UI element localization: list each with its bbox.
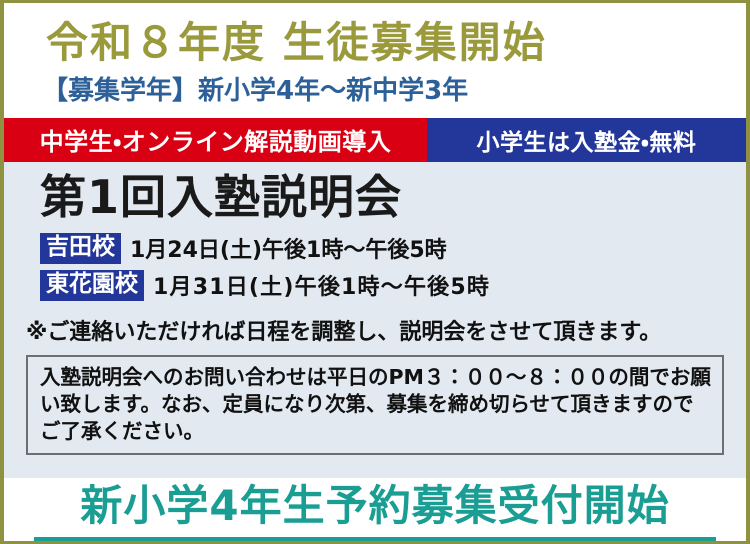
ribbon-left-label: 中学生・オンライン解説動画導入 bbox=[40, 122, 392, 157]
ribbon-right-label: 小学生は入塾金・無料 bbox=[477, 123, 697, 157]
grade-range-subtitle: 【募集学年】新小学4年〜新中学3年 bbox=[42, 77, 746, 106]
promo-poster: 令和８年度 生徒募集開始 【募集学年】新小学4年〜新中学3年 中学生・オンライン… bbox=[0, 0, 750, 544]
header-section: 令和８年度 生徒募集開始 【募集学年】新小学4年〜新中学3年 bbox=[4, 3, 746, 118]
page-title: 令和８年度 生徒募集開始 bbox=[46, 21, 746, 65]
inquiry-info-box: 入塾説明会へのお問い合わせは平日のPM３：００〜８：００の間でお願い致します。な… bbox=[26, 355, 724, 455]
ribbon-left-red: 中学生・オンライン解説動画導入 bbox=[4, 118, 427, 162]
event-title: 第1回入塾説明会 bbox=[40, 172, 746, 223]
session-datetime: 1月24日(土)午後1時〜午後5時 bbox=[130, 232, 447, 264]
campus-badge: 東花園校 bbox=[40, 270, 144, 300]
session-list: 吉田校 1月24日(土)午後1時〜午後5時 東花園校 1月31日(土)午後1時〜… bbox=[40, 232, 746, 306]
schedule-note: ※ご連絡いただければ日程を調整し、説明会をさせて頂きます。 bbox=[26, 314, 746, 346]
highlight-ribbon: 中学生・オンライン解説動画導入 小学生は入塾金・無料 bbox=[4, 118, 746, 162]
reservation-announcement: 新小学4年生予約募集受付開始 bbox=[4, 484, 746, 528]
session-datetime: 1月31日(土)午後1時〜午後5時 bbox=[153, 269, 490, 301]
main-section: 第1回入塾説明会 吉田校 1月24日(土)午後1時〜午後5時 東花園校 1月31… bbox=[4, 162, 746, 478]
footer-banner: 新小学4年生予約募集受付開始 bbox=[4, 478, 746, 541]
banner-underline bbox=[34, 537, 716, 541]
inquiry-info-text: 入塾説明会へのお問い合わせは平日のPM３：００〜８：００の間でお願い致します。な… bbox=[40, 364, 712, 445]
session-row: 東花園校 1月31日(土)午後1時〜午後5時 bbox=[40, 269, 746, 301]
ribbon-right-blue: 小学生は入塾金・無料 bbox=[427, 118, 746, 162]
campus-badge: 吉田校 bbox=[40, 233, 121, 263]
session-row: 吉田校 1月24日(土)午後1時〜午後5時 bbox=[40, 232, 746, 264]
